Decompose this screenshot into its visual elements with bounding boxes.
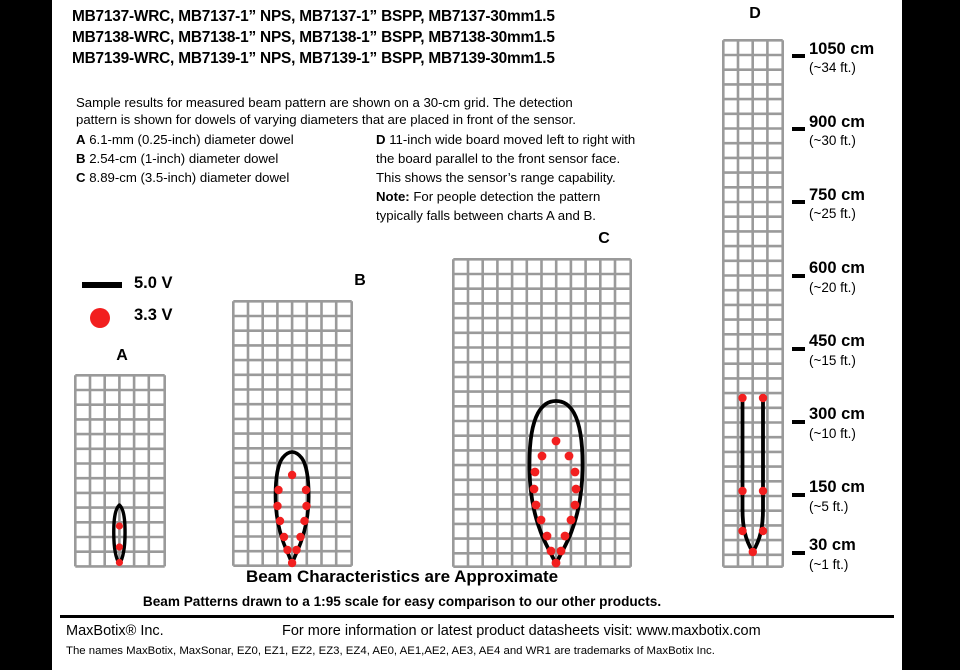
dowel-item-c: C 8.89-cm (3.5-inch) diameter dowel — [76, 168, 376, 187]
dowel-text-d: 11-inch wide board moved left to right w… — [386, 132, 636, 147]
legend-label-33v: 3.3 V — [134, 306, 173, 325]
dowel-text-a: 6.1-mm (0.25-inch) diameter dowel — [86, 132, 294, 147]
title-line-3: MB7139-WRC, MB7139-1” NPS, MB7139-1” BSP… — [72, 48, 732, 69]
scale-tick-900 — [792, 127, 805, 131]
detection-point — [571, 468, 580, 477]
detection-point — [552, 437, 561, 446]
scale-label-1050-cm: 1050 cm — [809, 40, 874, 59]
detection-point — [572, 485, 581, 494]
dowel-key-b: B — [76, 151, 86, 166]
scale-label-900-cm: 900 cm — [809, 113, 865, 132]
detection-point — [759, 527, 767, 535]
detection-point — [296, 533, 304, 541]
scale-label-300-ft: (~10 ft.) — [809, 426, 856, 441]
chart-letter-c: C — [589, 230, 619, 248]
dot-swatch-icon — [90, 308, 110, 328]
scale-label-600-ft: (~20 ft.) — [809, 280, 856, 295]
footer-visit-text: For more information or latest product d… — [282, 623, 761, 639]
scale-tick-600 — [792, 274, 805, 278]
detection-point — [116, 543, 123, 550]
dowel-text-b: 2.54-cm (1-inch) diameter dowel — [86, 151, 279, 166]
detection-point — [273, 502, 281, 510]
detection-point — [276, 517, 284, 525]
intro-paragraph: Sample results for measured beam pattern… — [76, 95, 722, 128]
title-line-2: MB7138-WRC, MB7138-1” NPS, MB7138-1” BSP… — [72, 27, 732, 48]
detection-point — [531, 468, 540, 477]
detection-point — [530, 485, 539, 494]
dowel-item-b: B 2.54-cm (1-inch) diameter dowel — [76, 149, 376, 168]
scale-label-450-cm: 450 cm — [809, 332, 865, 351]
dowel-key-c: C — [76, 170, 86, 185]
detection-point — [561, 532, 570, 541]
note-item: Note: For people detection the pattern — [376, 187, 726, 206]
detection-point — [532, 501, 541, 510]
detection-point — [571, 501, 580, 510]
chart-letter-a: A — [107, 347, 137, 365]
detection-point — [302, 486, 310, 494]
detection-point — [547, 547, 556, 556]
detection-point — [302, 502, 310, 510]
detection-point — [738, 394, 746, 402]
detection-point — [543, 532, 552, 541]
scale-label-450-ft: (~15 ft.) — [809, 353, 856, 368]
detection-point — [538, 452, 547, 461]
approximate-note: Beam Characteristics are Approximate — [52, 567, 752, 587]
chart-c-beam — [452, 258, 632, 574]
detection-point — [288, 471, 296, 479]
detection-point — [738, 487, 746, 495]
dowel-item-d-line3: This shows the sensor’s range capability… — [376, 168, 726, 187]
scale-label-150-ft: (~5 ft.) — [809, 499, 848, 514]
scale-label-30-cm: 30 cm — [809, 536, 856, 555]
dowel-key-a: A — [76, 132, 86, 147]
scale-label-600-cm: 600 cm — [809, 259, 865, 278]
dowel-item-a: A 6.1-mm (0.25-inch) diameter dowel — [76, 130, 376, 149]
note-text: For people detection the pattern — [410, 189, 601, 204]
chart-a-beam — [74, 374, 166, 574]
detection-point — [288, 559, 296, 567]
legend-label-5v: 5.0 V — [134, 274, 173, 293]
note-key: Note: — [376, 189, 410, 204]
chart-d-beam — [722, 39, 784, 568]
scale-label-750-ft: (~25 ft.) — [809, 206, 856, 221]
dowel-key-d: D — [376, 132, 386, 147]
scale-tick-150 — [792, 493, 805, 497]
detection-point — [567, 516, 576, 525]
footer-row: MaxBotix® Inc. For more information or l… — [60, 623, 900, 645]
detection-point — [565, 452, 574, 461]
detection-point — [274, 486, 282, 494]
dowel-item-d: D 11-inch wide board moved left to right… — [376, 130, 726, 149]
scale-label-30-ft: (~1 ft.) — [809, 557, 848, 572]
chart-letter-b: B — [345, 272, 375, 290]
chart-b-beam — [232, 300, 353, 575]
scale-tick-30 — [792, 551, 805, 555]
page-title: MB7137-WRC, MB7137-1” NPS, MB7137-1” BSP… — [72, 6, 732, 69]
detection-point — [759, 487, 767, 495]
scale-label-900-ft: (~30 ft.) — [809, 133, 856, 148]
scale-label-1050-ft: (~34 ft.) — [809, 60, 856, 75]
scale-tick-300 — [792, 420, 805, 424]
intro-line-1: Sample results for measured beam pattern… — [76, 95, 722, 112]
dowel-item-d-line2: the board parallel to the front sensor f… — [376, 149, 726, 168]
scale-tick-450 — [792, 347, 805, 351]
detection-point — [749, 548, 757, 556]
detection-point — [280, 533, 288, 541]
dowel-text-c: 8.89-cm (3.5-inch) diameter dowel — [86, 170, 290, 185]
line-swatch-icon — [82, 282, 122, 288]
scale-tick-750 — [792, 200, 805, 204]
detection-point — [738, 527, 746, 535]
footer-company: MaxBotix® Inc. — [66, 623, 164, 639]
scale-label-300-cm: 300 cm — [809, 405, 865, 424]
dowel-legend-right: D 11-inch wide board moved left to right… — [376, 130, 726, 225]
footer-divider-top — [60, 615, 894, 618]
detection-point — [292, 546, 300, 554]
datasheet-sheet: MB7137-WRC, MB7137-1” NPS, MB7137-1” BSP… — [52, 0, 902, 670]
note-line2: typically falls between charts A and B. — [376, 206, 726, 225]
detection-point — [116, 522, 123, 529]
detection-point — [116, 559, 123, 566]
scale-note: Beam Patterns drawn to a 1:95 scale for … — [52, 594, 752, 609]
intro-line-2: pattern is shown for dowels of varying d… — [76, 112, 722, 129]
scale-label-150-cm: 150 cm — [809, 478, 865, 497]
dowel-legend-left: A 6.1-mm (0.25-inch) diameter dowel B 2.… — [76, 130, 376, 187]
detection-point — [537, 516, 546, 525]
detection-point — [759, 394, 767, 402]
chart-letter-d: D — [740, 5, 770, 23]
title-line-1: MB7137-WRC, MB7137-1” NPS, MB7137-1” BSP… — [72, 6, 732, 27]
scale-label-750-cm: 750 cm — [809, 186, 865, 205]
footer-trademarks: The names MaxBotix, MaxSonar, EZ0, EZ1, … — [66, 645, 715, 657]
detection-point — [300, 517, 308, 525]
page-background: MB7137-WRC, MB7137-1” NPS, MB7137-1” BSP… — [0, 0, 960, 670]
scale-tick-1050 — [792, 54, 805, 58]
detection-point — [283, 546, 291, 554]
detection-point — [557, 547, 566, 556]
